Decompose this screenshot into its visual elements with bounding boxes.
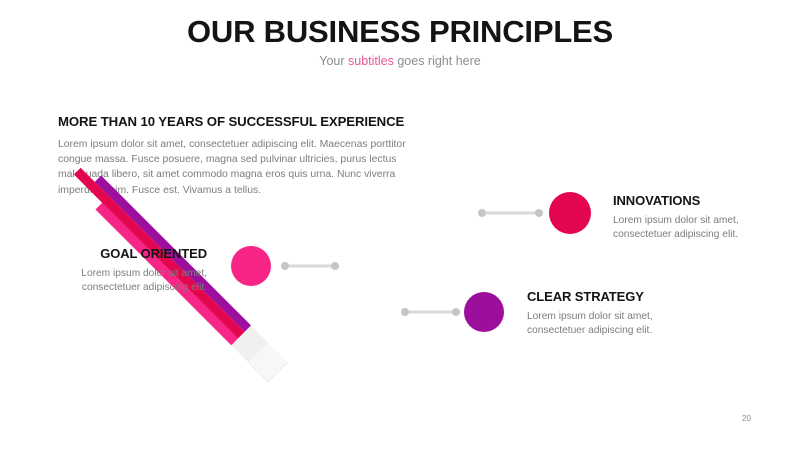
- connector-innovations: [478, 209, 543, 217]
- callout-clear-strategy: CLEAR STRATEGY Lorem ipsum dolor sit ame…: [527, 289, 707, 339]
- pencil-wood-section: [248, 342, 288, 382]
- subtitle-accent-word: subtitles: [348, 54, 394, 68]
- connector-goal-oriented: [281, 262, 339, 270]
- pencil-wood-upper: [231, 325, 268, 362]
- callout-innovations: INNOVATIONS Lorem ipsum dolor sit amet, …: [613, 193, 793, 243]
- connector-clear-strategy: [401, 308, 460, 316]
- callout-body: Lorem ipsum dolor sit amet, consectetuer…: [527, 310, 707, 339]
- callout-title: GOAL ORIENTED: [47, 246, 207, 261]
- callout-title: INNOVATIONS: [613, 193, 793, 208]
- connector-dot: [452, 308, 460, 316]
- marker-circle-clear-strategy[interactable]: [464, 292, 504, 332]
- pencil-graphite-tip: [248, 342, 288, 382]
- page-title: OUR BUSINESS PRINCIPLES: [0, 14, 800, 50]
- intro-heading: MORE THAN 10 YEARS OF SUCCESSFUL EXPERIE…: [58, 114, 418, 129]
- marker-circle-innovations[interactable]: [549, 192, 591, 234]
- marker-circle-goal-oriented[interactable]: [231, 246, 271, 286]
- connector-dot: [281, 262, 289, 270]
- intro-body: Lorem ipsum dolor sit amet, consectetuer…: [58, 137, 418, 198]
- connector-dot: [401, 308, 409, 316]
- page-subtitle: Your subtitles goes right here: [0, 54, 800, 68]
- connector-dot: [478, 209, 486, 217]
- callout-body: Lorem ipsum dolor sit amet, consectetuer…: [47, 267, 207, 296]
- callout-goal-oriented: GOAL ORIENTED Lorem ipsum dolor sit amet…: [47, 246, 207, 296]
- intro-block: MORE THAN 10 YEARS OF SUCCESSFUL EXPERIE…: [58, 114, 418, 198]
- subtitle-text-after: goes right here: [394, 54, 481, 68]
- callout-title: CLEAR STRATEGY: [527, 289, 707, 304]
- slide-canvas: OUR BUSINESS PRINCIPLES Your subtitles g…: [0, 0, 800, 450]
- connector-dot: [331, 262, 339, 270]
- page-number: 20: [742, 414, 751, 423]
- callout-body: Lorem ipsum dolor sit amet, consectetuer…: [613, 214, 793, 243]
- subtitle-text-before: Your: [319, 54, 348, 68]
- connector-dot: [535, 209, 543, 217]
